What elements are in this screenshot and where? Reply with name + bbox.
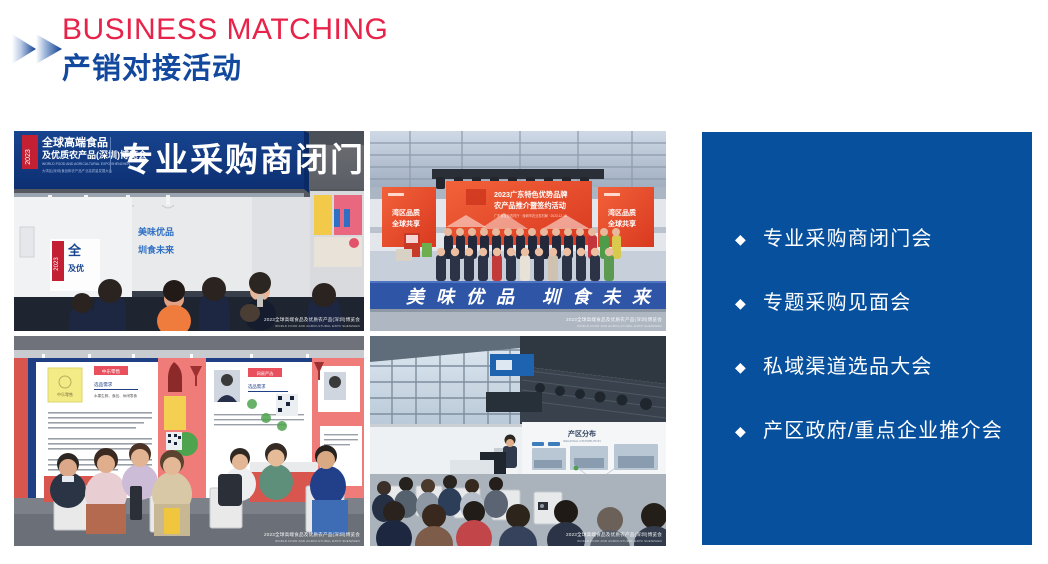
svg-text:全球共享: 全球共享 [391,219,420,228]
svg-text:大湾区(深圳)食品和农产品产业高质量发展大会: 大湾区(深圳)食品和农产品产业高质量发展大会 [42,168,113,173]
page-title-cn: 产销对接活动 [62,51,388,87]
svg-text:农产品推介暨签约活动: 农产品推介暨签约活动 [493,201,566,210]
svg-text:美味优品: 美味优品 [138,226,174,237]
svg-text:圳: 圳 [542,287,563,307]
svg-text:来: 来 [632,287,652,307]
page-title-group: BUSINESS MATCHING 产销对接活动 [62,12,388,87]
list-item-label: 私域渠道选品大会 [763,356,933,378]
activities-panel: ◆ 专业采购商闭门会 ◆ 专题采购见面会 ◆ 私域渠道选品大会 ◆ 产区政府/重… [702,132,1032,545]
diamond-bullet-icon: ◆ [735,228,763,250]
list-item-label: 专业采购商闭门会 [763,228,933,250]
svg-text:圳食未来: 圳食未来 [138,244,175,255]
photo-presentation-audience[interactable]: 产区分布 REGIONAL DISTRIBUTION [370,336,666,546]
list-item[interactable]: ◆ 私域渠道选品大会 [735,356,1024,378]
svg-text:中乐零售: 中乐零售 [57,391,73,397]
svg-text:湾区品质: 湾区品质 [392,208,420,217]
list-item[interactable]: ◆ 专题采购见面会 [735,292,1024,314]
svg-text:水果生鲜、食品、休闲零食: 水果生鲜、食品、休闲零食 [94,393,138,398]
svg-text:选品需求: 选品需求 [94,381,113,388]
svg-text:品: 品 [496,287,515,307]
svg-text:全: 全 [67,243,82,258]
svg-text:2023: 2023 [54,257,60,271]
svg-text:WORLD FOOD AND AGRICULTURAL EX: WORLD FOOD AND AGRICULTURAL EXPO SHENZHE… [42,162,130,166]
diamond-bullet-icon: ◆ [735,356,763,378]
svg-text:专业采购商闭门会: 专业采购商闭门会 [120,141,364,178]
svg-text:优: 优 [466,287,487,307]
svg-text:及优: 及优 [68,263,84,273]
svg-text:2023: 2023 [25,149,32,165]
svg-text:未: 未 [602,287,622,307]
svg-text:味: 味 [436,287,456,307]
svg-text:2023广东特色优势品牌: 2023广东特色优势品牌 [494,190,568,199]
photo-matching-booth-tables[interactable]: 中乐零售 中乐零售 选品需求 水果生鲜、食品、休闲零食 [14,336,364,546]
svg-text:全球共享: 全球共享 [607,219,636,228]
svg-text:REGIONAL DISTRIBUTION: REGIONAL DISTRIBUTION [563,439,600,443]
photo-closed-door-buyer-meeting[interactable]: 2023 全球高端食品 及优质农产品(深圳)博览会 WORLD FOOD AND… [14,131,364,331]
diamond-bullet-icon: ◆ [735,292,763,314]
page-header: BUSINESS MATCHING 产销对接活动 [0,0,1048,110]
svg-text:中乐零售: 中乐零售 [102,368,121,375]
list-item-label: 专题采购见面会 [763,292,911,314]
double-chevron-right-icon [10,32,66,66]
svg-text:食: 食 [572,287,593,307]
list-item[interactable]: ◆ 专业采购商闭门会 [735,228,1024,250]
list-item[interactable]: ◆ 产区政府/重点企业推介会 [735,420,1024,442]
list-item-label: 产区政府/重点企业推介会 [763,420,1003,442]
photo-gallery: 2023 全球高端食品 及优质农产品(深圳)博览会 WORLD FOOD AND… [14,131,666,546]
svg-text:选品需求: 选品需求 [248,383,266,390]
svg-text:产区分布: 产区分布 [568,429,596,438]
activities-list: ◆ 专业采购商闭门会 ◆ 专题采购见面会 ◆ 私域渠道选品大会 ◆ 产区政府/重… [735,228,1024,442]
svg-text:全球高端食品: 全球高端食品 [41,135,108,149]
photo-group-photo-stage[interactable]: 湾区品质 全球共享 湾区品质 全球共享 2023广东特色优势品牌 农产品推介暨签… [370,131,666,331]
diamond-bullet-icon: ◆ [735,420,763,442]
svg-text:湾区品质: 湾区品质 [608,208,636,217]
svg-text:美: 美 [406,287,426,307]
page-title-en: BUSINESS MATCHING [62,12,388,48]
svg-text:网易严选: 网易严选 [257,370,275,377]
